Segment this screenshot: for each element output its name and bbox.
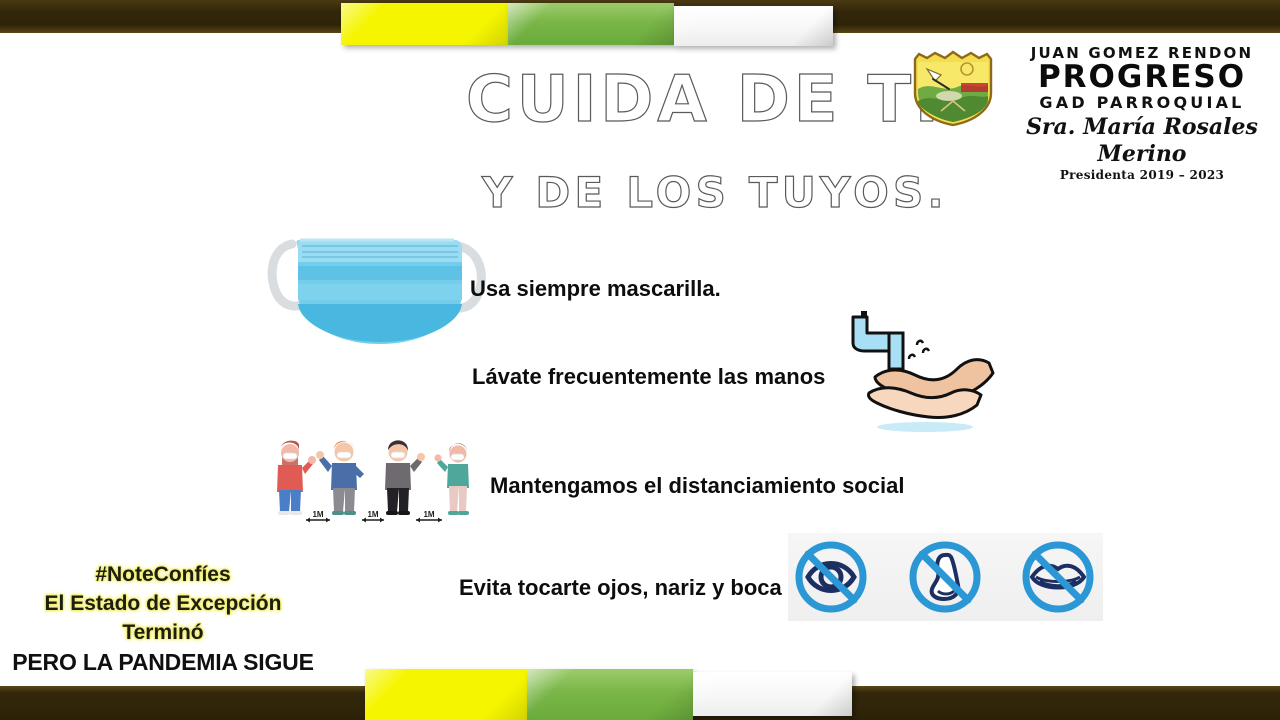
distancing-person-4: [434, 443, 469, 515]
logo-line-president-term: Presidenta 2019 – 2023: [1007, 168, 1277, 183]
social-distancing-image: 1M 1M 1M: [268, 432, 490, 528]
logo-text-group: JUAN GOMEZ RENDON PROGRESO GAD PARROQUIA…: [1001, 45, 1277, 183]
distancing-person-3: [385, 440, 425, 515]
slide-canvas: CUIDA DE TI Y DE LOS TUYOS. JUAN GOMEZ R…: [0, 0, 1280, 720]
no-touch-mouth-icon: [1026, 545, 1090, 609]
top-banner-block-white: [674, 6, 833, 46]
distance-label-2: 1M: [367, 510, 378, 519]
logo-line-progreso: PROGRESO: [1007, 62, 1277, 93]
logo-line-president-name: Sra. María Rosales Merino: [1007, 114, 1277, 168]
face-mask-image: [262, 222, 494, 350]
bottom-banner-block-yellow: [365, 669, 527, 720]
hand-washing-image: [845, 303, 1000, 433]
tip-label-handwash: Lávate frecuentemente las manos: [472, 364, 825, 390]
no-touch-eye-icon: [799, 545, 863, 609]
top-banner-block-green: [508, 3, 674, 45]
tip-label-distancing: Mantengamos el distanciamiento social: [490, 473, 904, 499]
logo-line-gad: GAD PARROQUIAL: [1007, 93, 1277, 112]
tip-label-no-touch-face: Evita tocarte ojos, nariz y boca: [459, 575, 782, 601]
tip-label-mask: Usa siempre mascarilla.: [470, 276, 721, 302]
page-title-line-2: Y DE LOS TUYOS.: [482, 172, 948, 214]
page-title-line-1: CUIDA DE TI: [466, 68, 943, 132]
coat-of-arms-crest-icon: [905, 49, 1001, 127]
bottom-banner-block-green: [527, 669, 693, 720]
distance-label-1: 1M: [312, 510, 323, 519]
distancing-person-1: [277, 441, 316, 515]
no-touch-nose-icon: [913, 545, 977, 609]
slogan-line-hashtag: #NoteConfíes: [8, 560, 318, 589]
slogan-line-ended: Terminó: [8, 618, 318, 647]
distance-label-3: 1M: [423, 510, 434, 519]
slogan-line-pandemic: PERO LA PANDEMIA SIGUE: [8, 647, 318, 677]
no-touch-face-image: [788, 533, 1103, 621]
organization-logo-block: JUAN GOMEZ RENDON PROGRESO GAD PARROQUIA…: [905, 45, 1277, 165]
bottom-banner-block-white: [693, 672, 852, 716]
top-banner-block-yellow: [341, 3, 508, 45]
distancing-person-2: [316, 441, 364, 515]
slogan-block: #NoteConfíes El Estado de Excepción Term…: [8, 560, 318, 677]
slogan-line-state: El Estado de Excepción: [8, 589, 318, 618]
